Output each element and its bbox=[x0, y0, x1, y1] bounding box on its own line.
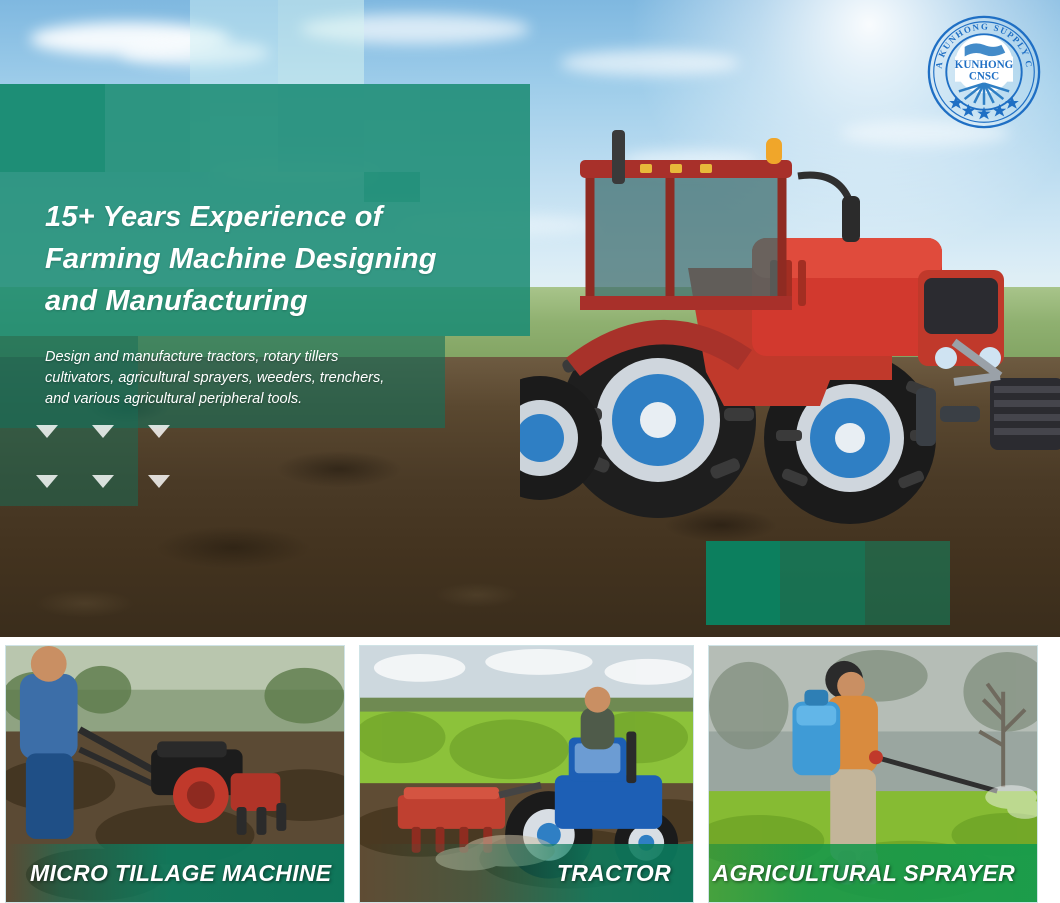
triangle-down-icon bbox=[148, 425, 170, 438]
triangle-down-icon bbox=[92, 425, 114, 438]
mosaic-square bbox=[278, 0, 364, 84]
product-card-label: TRACTOR bbox=[360, 844, 693, 902]
cloud bbox=[560, 50, 740, 76]
description-line: and various agricultural peripheral tool… bbox=[45, 389, 465, 410]
product-card-label: AGRICULTURAL SPRAYER bbox=[709, 844, 1037, 902]
tractor-illustration bbox=[520, 120, 1060, 550]
green-block bbox=[780, 541, 865, 625]
product-card-label: MICRO TILLAGE MACHINE bbox=[6, 844, 344, 902]
triangle-decoration bbox=[36, 425, 196, 497]
triangle-down-icon bbox=[36, 425, 58, 438]
triangle-down-icon bbox=[92, 475, 114, 488]
headline-line: Farming Machine Designing bbox=[45, 238, 515, 280]
green-block bbox=[865, 541, 950, 625]
company-logo[interactable]: KUNHONG CNSC CHINA KUNHONG SUPPLY CHAIN bbox=[926, 14, 1042, 130]
promotional-banner: 15+ Years Experience of Farming Machine … bbox=[0, 0, 1060, 903]
product-card-tractor[interactable]: TRACTOR bbox=[359, 645, 694, 903]
logo-center-line1: KUNHONG bbox=[955, 59, 1014, 71]
triangle-down-icon bbox=[148, 475, 170, 488]
triangle-down-icon bbox=[36, 475, 58, 488]
product-card-micro-tillage-machine[interactable]: MICRO TILLAGE MACHINE bbox=[5, 645, 345, 903]
hero-description: Design and manufacture tractors, rotary … bbox=[45, 347, 465, 410]
hero-section: 15+ Years Experience of Farming Machine … bbox=[0, 0, 1060, 637]
headline-line: 15+ Years Experience of bbox=[45, 196, 515, 238]
product-card-label-text: MICRO TILLAGE MACHINE bbox=[30, 860, 331, 887]
green-block bbox=[706, 541, 780, 625]
description-line: cultivators, agricultural sprayers, weed… bbox=[45, 368, 465, 389]
description-line: Design and manufacture tractors, rotary … bbox=[45, 347, 465, 368]
logo-center-line2: CNSC bbox=[969, 71, 999, 83]
product-card-label-text: AGRICULTURAL SPRAYER bbox=[713, 860, 1015, 887]
product-card-row: MICRO TILLAGE MACHINE bbox=[0, 645, 1060, 903]
page-title: 15+ Years Experience of Farming Machine … bbox=[45, 196, 515, 322]
headline-line: and Manufacturing bbox=[45, 280, 515, 322]
product-card-label-text: TRACTOR bbox=[557, 860, 671, 887]
product-card-agricultural-sprayer[interactable]: AGRICULTURAL SPRAYER bbox=[708, 645, 1038, 903]
